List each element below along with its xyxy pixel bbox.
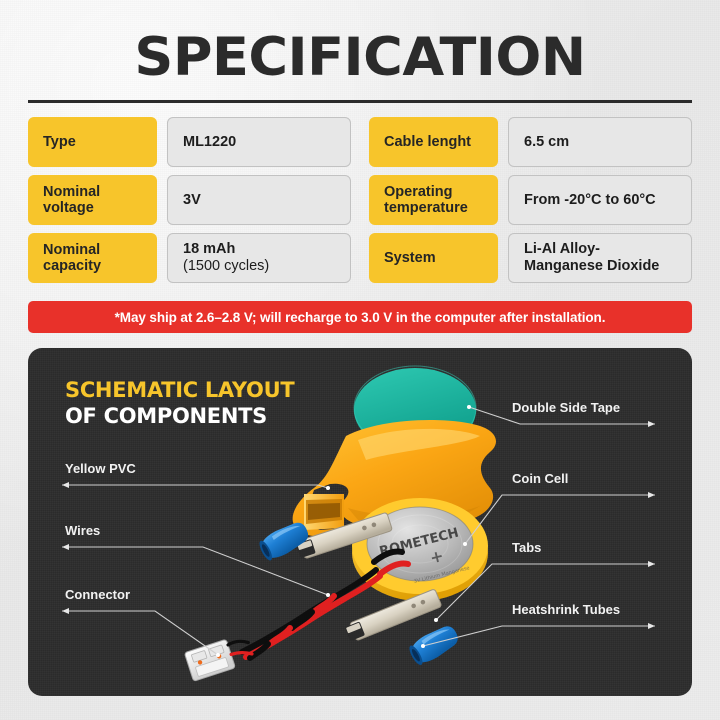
spec-value: From -20°C to 60°C (508, 175, 692, 225)
callout-label-tabs: Tabs (512, 540, 541, 555)
schematic-heading: SCHEMATIC LAYOUT OF COMPONENTS (65, 377, 294, 429)
spec-column-left: Type ML1220 Nominal voltage 3V Nominal c… (28, 117, 351, 283)
spec-value: ML1220 (167, 117, 351, 167)
spec-row: Operating temperature From -20°C to 60°C (369, 175, 692, 225)
spec-row: Nominal voltage 3V (28, 175, 351, 225)
spec-value-primary: ML1220 (183, 134, 335, 151)
spec-value-primary: Li-Al Alloy-Manganese Dioxide (524, 241, 676, 274)
spec-key: Cable lenght (369, 117, 498, 167)
schematic-heading-line1: SCHEMATIC LAYOUT (65, 377, 294, 403)
spec-value-primary: 6.5 cm (524, 134, 676, 151)
spec-value-primary: 3V (183, 192, 335, 209)
spec-key: Type (28, 117, 157, 167)
callout-label-wires: Wires (65, 523, 100, 538)
callout-label-double-side-tape: Double Side Tape (512, 400, 620, 415)
specification-table: Type ML1220 Nominal voltage 3V Nominal c… (28, 117, 692, 283)
spec-value-secondary: (1500 cycles) (183, 258, 335, 275)
spec-value: Li-Al Alloy-Manganese Dioxide (508, 233, 692, 283)
spec-value: 3V (167, 175, 351, 225)
spec-value-primary: 18 mAh (183, 241, 335, 258)
warning-banner: *May ship at 2.6–2.8 V; will recharge to… (28, 301, 692, 333)
page-title: SPECIFICATION (0, 27, 720, 88)
callout-label-connector: Connector (65, 587, 130, 602)
callout-label-yellow-pvc: Yellow PVC (65, 461, 136, 476)
schematic-heading-line2: OF COMPONENTS (65, 403, 294, 429)
spec-row: Cable lenght 6.5 cm (369, 117, 692, 167)
spec-row: Nominal capacity 18 mAh (1500 cycles) (28, 233, 351, 283)
spec-key: Operating temperature (369, 175, 498, 225)
spec-key: Nominal capacity (28, 233, 157, 283)
schematic-panel: SCHEMATIC LAYOUT OF COMPONENTS (28, 348, 692, 696)
spec-value-primary: From -20°C to 60°C (524, 192, 676, 209)
spec-column-right: Cable lenght 6.5 cm Operating temperatur… (369, 117, 692, 283)
callout-label-coin-cell: Coin Cell (512, 471, 568, 486)
spec-key: Nominal voltage (28, 175, 157, 225)
spec-row: System Li-Al Alloy-Manganese Dioxide (369, 233, 692, 283)
spec-key: System (369, 233, 498, 283)
spec-value: 18 mAh (1500 cycles) (167, 233, 351, 283)
spec-value: 6.5 cm (508, 117, 692, 167)
title-divider (28, 100, 692, 103)
spec-row: Type ML1220 (28, 117, 351, 167)
callout-label-heatshrink-tubes: Heatshrink Tubes (512, 602, 620, 617)
